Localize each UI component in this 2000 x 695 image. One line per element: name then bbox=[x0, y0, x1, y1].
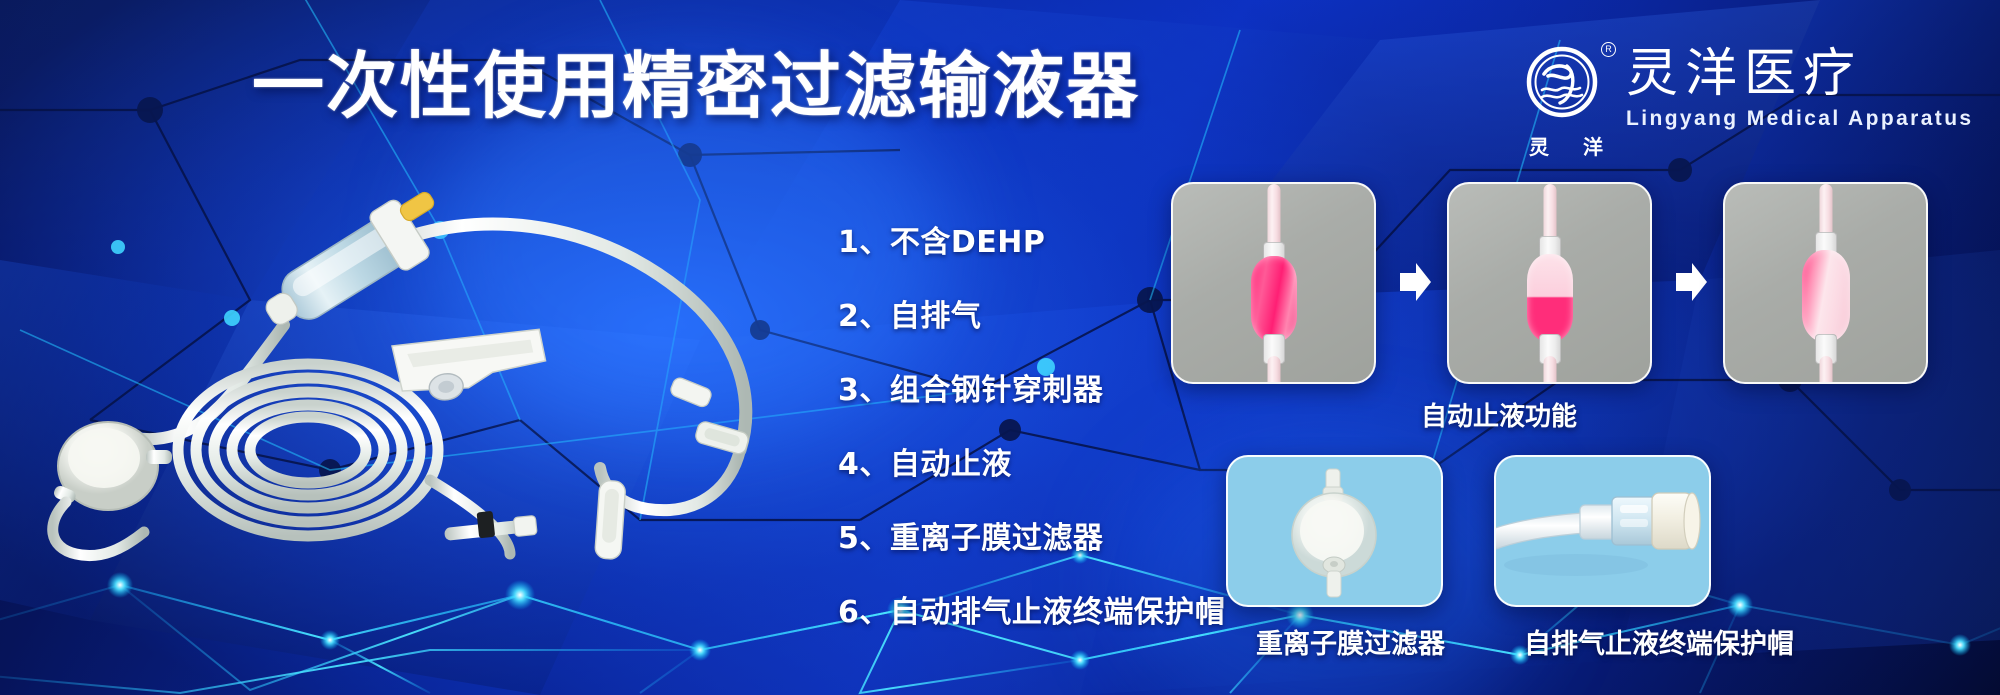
photo-heavy-ion-membrane-filter bbox=[1226, 455, 1443, 607]
sequence-arrow-2-icon bbox=[1674, 260, 1708, 304]
photo-auto-vent-stop-terminal-cap bbox=[1494, 455, 1711, 607]
product-banner: 一次性使用精密过滤输液器 R 灵 洋 灵洋医疗 Lingya bbox=[0, 0, 2000, 695]
logo-text-block: 灵洋医疗 Lingyang Medical Apparatus bbox=[1626, 38, 1974, 131]
photo-auto-stop-step-3 bbox=[1723, 182, 1928, 384]
drip-chamber bbox=[252, 181, 458, 345]
photo-auto-stop-step-1 bbox=[1171, 182, 1376, 384]
logo-mark-group: R 灵 洋 bbox=[1520, 38, 1612, 160]
feature-list: 1、不含DEHP 2、自排气 3、组合钢针穿刺器 4、自动止液 5、重离子膜过滤… bbox=[838, 228, 1225, 628]
company-name-en: Lingyang Medical Apparatus bbox=[1626, 107, 1974, 131]
page-title: 一次性使用精密过滤输液器 bbox=[252, 48, 1140, 124]
caption-auto-vent-stop-terminal-cap: 自排气止液终端保护帽 bbox=[1524, 622, 1794, 661]
feature-item-2: 2、自排气 bbox=[838, 302, 1225, 332]
lingyang-wave-emblem-icon: R bbox=[1520, 38, 1612, 130]
feature-item-5: 5、重离子膜过滤器 bbox=[838, 524, 1225, 554]
company-name-cn: 灵洋医疗 bbox=[1626, 48, 1974, 100]
logo-mark-caption: 灵 洋 bbox=[1520, 131, 1612, 160]
registered-trademark-icon: R bbox=[1601, 42, 1616, 57]
hero-product-image bbox=[40, 150, 780, 570]
logo-mark-char-left: 灵 bbox=[1529, 131, 1549, 160]
sequence-arrow-1-icon bbox=[1398, 260, 1432, 304]
feature-item-1: 1、不含DEHP bbox=[838, 228, 1225, 258]
inline-connector-a bbox=[669, 376, 713, 409]
needle-connector bbox=[443, 506, 537, 543]
feature-item-4: 4、自动止液 bbox=[838, 450, 1225, 480]
feature-item-6: 6、自动排气止液终端保护帽 bbox=[838, 598, 1225, 628]
protective-cap bbox=[595, 480, 626, 560]
logo-mark-char-right: 洋 bbox=[1583, 131, 1603, 160]
caption-heavy-ion-membrane-filter: 重离子膜过滤器 bbox=[1256, 622, 1445, 661]
photo-auto-stop-step-2 bbox=[1447, 182, 1652, 384]
company-logo: R 灵 洋 灵洋医疗 Lingyang Medical Apparatus bbox=[1520, 38, 1974, 160]
caption-auto-stop-function: 自动止液功能 bbox=[1421, 396, 1577, 433]
feature-item-3: 3、组合钢针穿刺器 bbox=[838, 376, 1225, 406]
